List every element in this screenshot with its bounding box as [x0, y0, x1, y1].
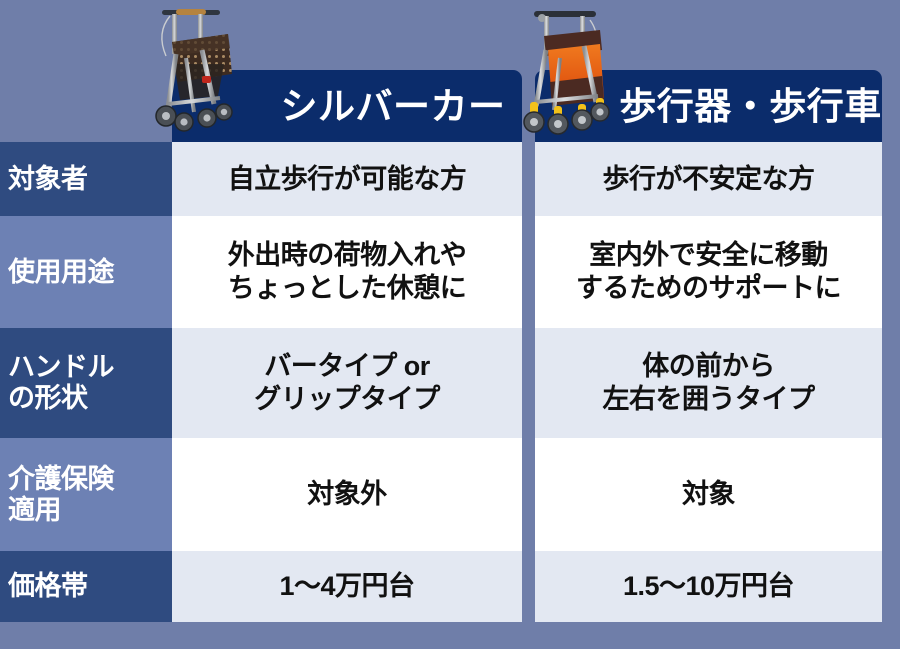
column-header-walker: 歩行器・歩行車 — [535, 70, 882, 142]
column-divider — [522, 438, 535, 551]
cell-walker-handle-shape: 体の前から 左右を囲うタイプ — [535, 328, 882, 438]
row-label-line: 価格帯 — [8, 571, 88, 602]
row-tail — [882, 551, 900, 622]
column-header-silver-car: シルバーカー — [172, 70, 522, 142]
table-row: ハンドル の形状 バータイプ or グリップタイプ 体の前から 左右を囲うタイプ — [0, 328, 900, 438]
row-label-handle-shape: ハンドル の形状 — [0, 328, 172, 438]
cell-silver-car-target-user: 自立歩行が可能な方 — [172, 142, 522, 216]
table-row: 価格帯 1〜4万円台 1.5〜10万円台 — [0, 551, 900, 622]
row-label-target-user: 対象者 — [0, 142, 172, 216]
table-header-zone: シルバーカー 歩行器・歩行車 — [0, 0, 900, 142]
comparison-table: 対象者 自立歩行が可能な方 歩行が不安定な方 使用用途 外出時の荷物入れや ちょ… — [0, 142, 900, 622]
cell-walker-insurance: 対象 — [535, 438, 882, 551]
cell-silver-car-price-range: 1〜4万円台 — [172, 551, 522, 622]
cell-line: 体の前から — [603, 350, 815, 383]
cell-line: 左右を囲うタイプ — [603, 383, 815, 416]
row-label-line: の形状 — [8, 383, 114, 414]
cell-silver-car-handle-shape: バータイプ or グリップタイプ — [172, 328, 522, 438]
row-tail — [882, 142, 900, 216]
column-divider — [522, 328, 535, 438]
row-tail — [882, 328, 900, 438]
cell-line: グリップタイプ — [254, 383, 440, 416]
cell-line: 対象 — [682, 478, 735, 511]
row-label-line: 適用 — [8, 495, 114, 526]
table-row: 介護保険 適用 対象外 対象 — [0, 438, 900, 551]
row-label-line: 使用用途 — [8, 257, 114, 288]
cell-line: 室内外で安全に移動 — [576, 239, 841, 272]
column-divider — [522, 551, 535, 622]
row-label-line: 介護保険 — [8, 464, 114, 495]
row-label-line: 対象者 — [8, 164, 88, 195]
row-tail — [882, 216, 900, 328]
cell-line: 1〜4万円台 — [279, 570, 414, 603]
cell-line: 対象外 — [307, 478, 387, 511]
row-label-usage: 使用用途 — [0, 216, 172, 328]
column-header-title-walker: 歩行器・歩行車 — [535, 88, 882, 125]
row-tail — [882, 438, 900, 551]
table-row: 対象者 自立歩行が可能な方 歩行が不安定な方 — [0, 142, 900, 216]
column-header-title-silver-car: シルバーカー — [189, 88, 506, 125]
cell-line: 自立歩行が可能な方 — [228, 163, 467, 196]
cell-line: 外出時の荷物入れや — [228, 239, 467, 272]
cell-line: するためのサポートに — [576, 272, 841, 305]
cell-walker-price-range: 1.5〜10万円台 — [535, 551, 882, 622]
cell-walker-usage: 室内外で安全に移動 するためのサポートに — [535, 216, 882, 328]
table-row: 使用用途 外出時の荷物入れや ちょっとした休憩に 室内外で安全に移動 するための… — [0, 216, 900, 328]
cell-silver-car-usage: 外出時の荷物入れや ちょっとした休憩に — [172, 216, 522, 328]
cell-silver-car-insurance: 対象外 — [172, 438, 522, 551]
column-divider — [522, 216, 535, 328]
row-label-insurance: 介護保険 適用 — [0, 438, 172, 551]
cell-walker-target-user: 歩行が不安定な方 — [535, 142, 882, 216]
row-label-line: ハンドル — [8, 352, 114, 383]
cell-line: 歩行が不安定な方 — [603, 163, 815, 196]
column-divider — [522, 142, 535, 216]
cell-line: ちょっとした休憩に — [228, 272, 467, 305]
cell-line: 1.5〜10万円台 — [623, 570, 794, 603]
cell-line: バータイプ or — [254, 350, 440, 383]
row-label-price-range: 価格帯 — [0, 551, 172, 622]
